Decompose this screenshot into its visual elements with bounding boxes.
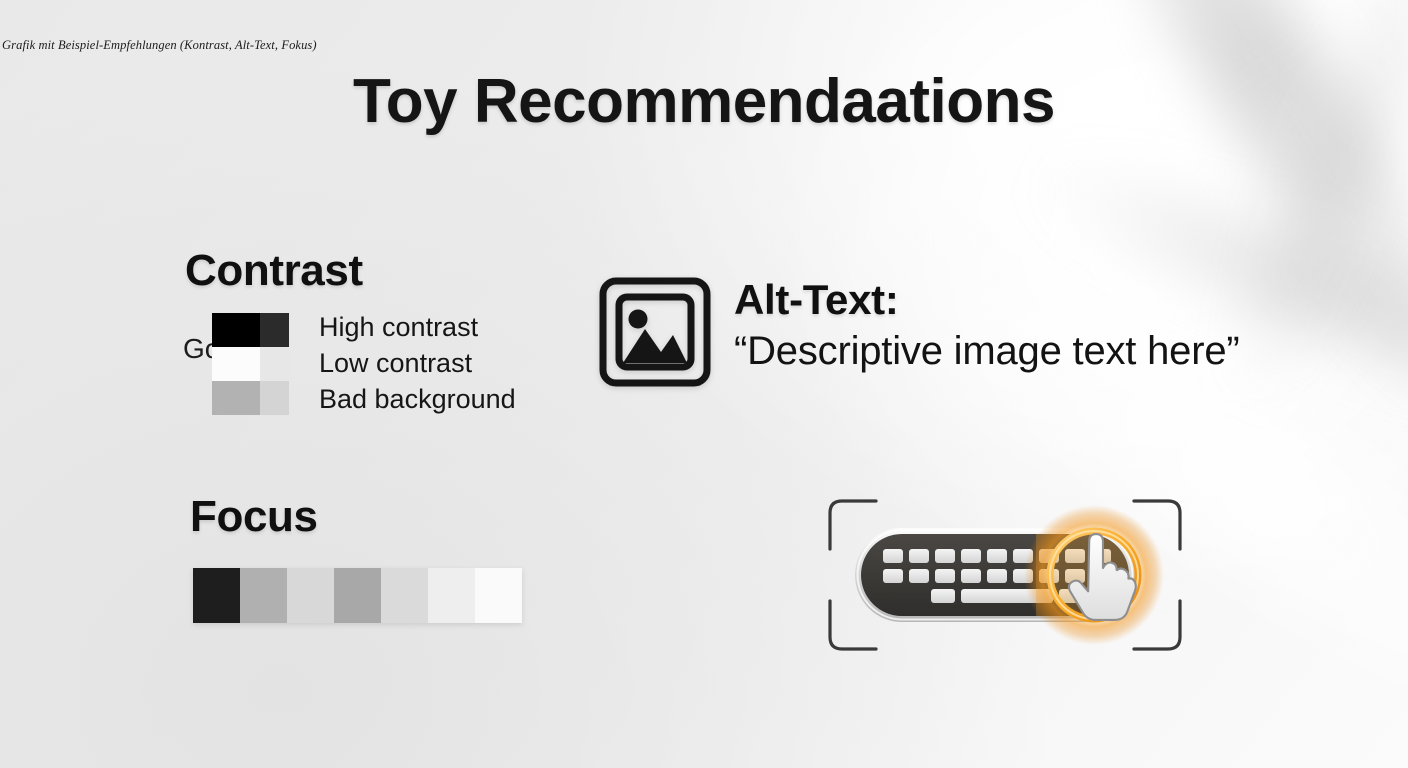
contrast-swatch-row xyxy=(212,347,289,381)
contrast-label-list: High contrast Low contrast Bad backgroun… xyxy=(319,309,516,417)
focus-section-heading: Focus xyxy=(190,492,318,542)
alt-text-block: Alt-Text: “Descriptive image text here” xyxy=(598,275,1240,387)
contrast-label: High contrast xyxy=(319,309,516,345)
contrast-swatch-cell xyxy=(260,381,289,415)
contrast-swatch-cell xyxy=(260,313,289,347)
focus-strip-cell xyxy=(475,568,522,623)
focus-strip-cell xyxy=(334,568,381,623)
contrast-label: Low contrast xyxy=(319,345,516,381)
contrast-swatch-cell xyxy=(212,381,260,415)
contrast-swatch-row xyxy=(212,313,289,347)
focus-strip-cell xyxy=(240,568,287,623)
image-placeholder-icon xyxy=(598,277,712,387)
focus-strip-cell xyxy=(428,568,475,623)
focus-gradient-strip xyxy=(193,568,522,623)
keyboard-focus-ring-icon xyxy=(806,487,1204,663)
focus-strip-cell xyxy=(193,568,240,623)
alt-text-title: Alt-Text: xyxy=(734,275,1240,325)
focus-strip-cell xyxy=(381,568,428,623)
slide-canvas: Grafik mit Beispiel-Empfehlungen (Kontra… xyxy=(0,0,1408,768)
contrast-swatch-cell xyxy=(260,347,289,381)
focus-strip-cell xyxy=(287,568,334,623)
page-title: Toy Recommendaations xyxy=(0,66,1408,137)
alt-text-value: “Descriptive image text here” xyxy=(734,325,1240,377)
contrast-swatch-cell xyxy=(212,347,260,381)
contrast-swatch-cell xyxy=(212,313,260,347)
contrast-section-heading: Contrast xyxy=(185,246,363,296)
alt-text-copy: Alt-Text: “Descriptive image text here” xyxy=(734,275,1240,377)
contrast-swatch-grid xyxy=(212,313,289,415)
contrast-label: Bad background xyxy=(319,381,516,417)
contrast-swatch-row xyxy=(212,381,289,415)
figure-caption: Grafik mit Beispiel-Empfehlungen (Kontra… xyxy=(2,38,317,53)
